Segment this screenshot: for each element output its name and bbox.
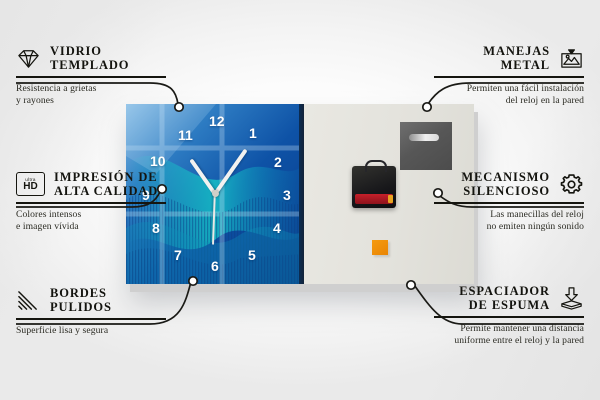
feature-title-line1: VIDRIO: [50, 44, 129, 58]
infographic-canvas: 12 1 2 3 4 5 6 7 8 9 10 11: [0, 0, 600, 400]
feature-rule: [434, 202, 584, 204]
clock-numeral-6: 6: [211, 259, 219, 273]
clock-numeral-1: 1: [249, 126, 257, 140]
feature-title-line2: SILENCIOSO: [461, 184, 550, 198]
clock-numeral-5: 5: [248, 248, 256, 262]
feature-title-line1: IMPRESIÓN DE: [54, 170, 158, 184]
feature-mecanismo-silencioso: MECANISMO SILENCIOSO Las manecillas del …: [434, 170, 584, 233]
movement-hook: [365, 160, 387, 172]
clock-numeral-7: 7: [174, 248, 182, 262]
ultra-hd-large-text: HD: [23, 182, 37, 192]
feature-espaciador-espuma: ESPACIADOR DE ESPUMA Permite mantener un…: [434, 284, 584, 347]
feature-title-line2: DE ESPUMA: [459, 298, 550, 312]
feature-impresion-alta-calidad: ultra HD IMPRESIÓN DE ALTA CALIDAD Color…: [16, 170, 166, 233]
clock-numeral-4: 4: [273, 221, 281, 235]
feature-desc-line2: y rayones: [16, 95, 166, 107]
feature-title-line2: ALTA CALIDAD: [54, 184, 158, 198]
ultra-hd-icon: ultra HD: [16, 172, 45, 196]
wall-mount-picture-icon: [559, 46, 584, 71]
feature-desc-line2: e imagen vívida: [16, 221, 166, 233]
feature-title-line1: ESPACIADOR: [459, 284, 550, 298]
feature-rule: [434, 76, 584, 78]
feature-rule: [16, 318, 166, 320]
product-image: 12 1 2 3 4 5 6 7 8 9 10 11: [126, 104, 474, 284]
feature-desc-line1: Permite mantener una distancia: [434, 323, 584, 335]
clock-numeral-11: 11: [178, 128, 193, 142]
metal-hanger-plate: [400, 122, 452, 170]
hanger-slot: [409, 134, 439, 141]
feature-desc-line1: Las manecillas del reloj: [434, 209, 584, 221]
feature-bordes-pulidos: BORDES PULIDOS Superficie lisa y segura: [16, 286, 166, 337]
feature-desc-line1: Colores intensos: [16, 209, 166, 221]
foam-spacer-arrow-icon: [559, 286, 584, 311]
feature-title-line1: BORDES: [50, 286, 112, 300]
feature-rule: [16, 76, 166, 78]
feature-title-line1: MECANISMO: [461, 170, 550, 184]
gear-icon: [559, 172, 584, 197]
clock-numeral-2: 2: [274, 155, 282, 169]
feature-desc-line1: Permiten una fácil instalación: [434, 83, 584, 95]
feature-desc-line2: no emiten ningún sonido: [434, 221, 584, 233]
feature-desc-line2: uniforme entre el reloj y la pared: [434, 335, 584, 347]
clock-center-cap: [212, 190, 219, 197]
feature-title-line2: METAL: [483, 58, 550, 72]
feature-manejas-metal: MANEJAS METAL Permiten una fácil instala…: [434, 44, 584, 107]
quartz-movement: [352, 166, 396, 208]
clock-numeral-10: 10: [150, 154, 166, 168]
feature-vidrio-templado: VIDRIO TEMPLADO Resistencia a grietas y …: [16, 44, 166, 107]
feature-rule: [16, 202, 166, 204]
feature-desc-line1: Resistencia a grietas: [16, 83, 166, 95]
clock-numeral-3: 3: [283, 188, 291, 202]
diamond-icon: [16, 46, 41, 71]
feature-rule: [434, 316, 584, 318]
clock-numeral-12: 12: [209, 114, 225, 128]
feature-desc-line1: Superficie lisa y segura: [16, 325, 166, 337]
polished-edges-icon: [16, 288, 41, 313]
battery-terminal: [388, 195, 393, 203]
feature-title-line1: MANEJAS: [483, 44, 550, 58]
feature-title-line2: TEMPLADO: [50, 58, 129, 72]
foam-spacer: [372, 240, 388, 255]
feature-desc-line2: del reloj en la pared: [434, 95, 584, 107]
feature-title-line2: PULIDOS: [50, 300, 112, 314]
